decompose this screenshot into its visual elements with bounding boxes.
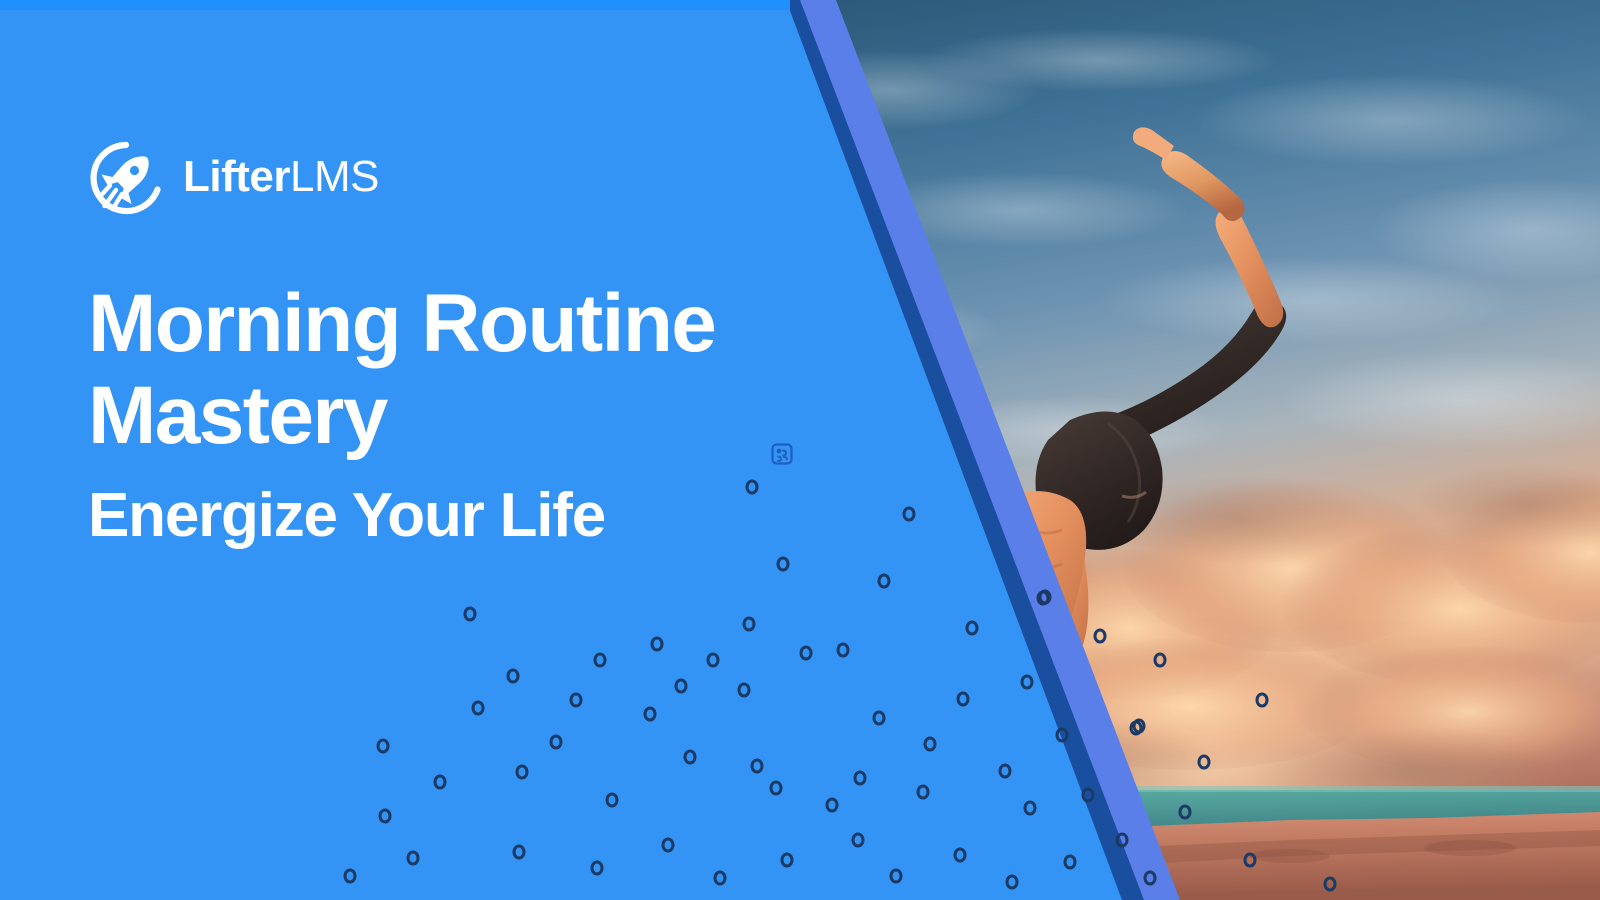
- brand-wordmark: LifterLMS: [183, 155, 379, 202]
- wordmark-lifter: Lifter: [183, 152, 290, 201]
- rocket-in-circle-icon: [88, 140, 164, 216]
- page-title: Morning Routine Mastery: [88, 278, 868, 462]
- title-line-1: Morning Routine: [88, 278, 868, 370]
- brand-logo-lockup[interactable]: LifterLMS: [88, 140, 900, 216]
- course-banner: LifterLMS Morning Routine Mastery Energi…: [0, 0, 1600, 900]
- page-subtitle: Energize Your Life: [88, 482, 900, 550]
- wordmark-lms: LMS: [290, 152, 379, 201]
- title-line-2: Mastery: [88, 370, 868, 462]
- banner-content: LifterLMS Morning Routine Mastery Energi…: [0, 0, 900, 900]
